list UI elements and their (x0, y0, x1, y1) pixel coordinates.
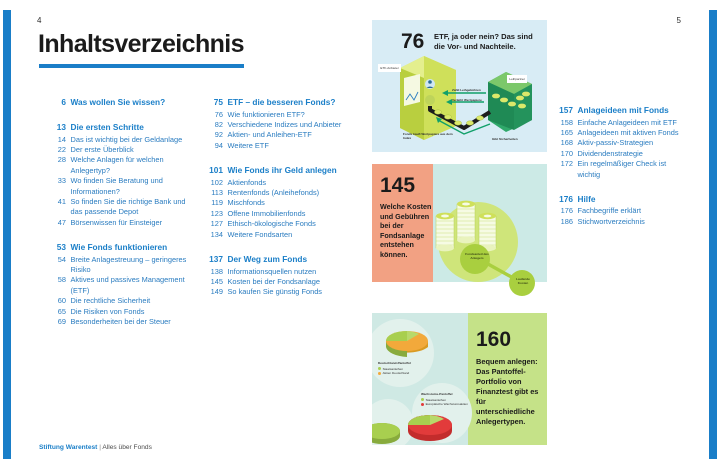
toc-page-number: 113 (206, 188, 228, 198)
toc-entry[interactable]: 54Breite Anlagestreuung – geringeres Ris… (49, 255, 192, 276)
toc-entry-label: Aktien- und Anleihen-ETF (228, 130, 350, 140)
toc-chapter-heading[interactable]: 101Wie Fonds ihr Geld anlegen (206, 164, 349, 176)
toc-entry[interactable]: 138Informationsquellen nutzen (206, 267, 349, 277)
toc-entry-label: Anlageideen mit aktiven Fonds (578, 128, 685, 138)
toc-entry[interactable]: 127Ethisch-ökologische Fonds (206, 219, 349, 229)
legend-label: Aktien Deutschland (383, 371, 410, 376)
toc-entry[interactable]: 14Das ist wichtig bei der Geldanlage (49, 135, 192, 145)
legend-swatch-icon (378, 367, 381, 370)
toc-entry-label: So finden Sie die richtige Bank und das … (71, 197, 193, 218)
toc-page-number: 60 (49, 296, 71, 306)
toc-entry[interactable]: 60Die rechtliche Sicherheit (49, 296, 192, 306)
toc-page-number: 69 (49, 317, 71, 327)
toc-chapter-heading[interactable]: 53Wie Fonds funktionieren (49, 241, 192, 253)
legend-title: Deutschland-Pantoffel (378, 361, 411, 366)
toc-entry-label: Weitere Fondsarten (228, 230, 350, 240)
pie-chart-portfolios (372, 313, 482, 445)
toc-entry-label: Mischfonds (228, 198, 350, 208)
toc-group: 53Wie Fonds funktionieren54Breite Anlage… (49, 241, 192, 327)
toc-page-number: 82 (206, 120, 228, 130)
toc-entry[interactable]: 119Mischfonds (206, 198, 349, 208)
title-underline (39, 64, 244, 68)
label-fonds-kauft-wertpapiere: Fonds kauft Wertpapiere aus dem Index (403, 132, 455, 141)
toc-entry-label: Aktives und passives Management (ETF) (71, 275, 193, 296)
toc-page-number: 101 (206, 164, 228, 176)
toc-entry[interactable]: 92Aktien- und Anleihen-ETF (206, 130, 349, 140)
toc-column-middle: 75ETF – die besseren Fonds?76Wie funktio… (206, 96, 349, 341)
toc-entry[interactable]: 134Weitere Fondsarten (206, 230, 349, 240)
toc-page-number: 176 (556, 193, 578, 205)
toc-group: 13Die ersten Schritte14Das ist wichtig b… (49, 121, 192, 228)
toc-entry-label: Dividendenstrategie (578, 149, 685, 159)
toc-page-number: 145 (206, 277, 228, 287)
toc-entry[interactable]: 186Stichwortverzeichnis (556, 217, 684, 227)
etf-lending-diagram (372, 20, 547, 152)
toc-page-number: 138 (206, 267, 228, 277)
toc-entry-label: Welche Anlagen für welchen Anlegertyp? (71, 155, 193, 176)
toc-columns: 6Was wollen Sie wissen?13Die ersten Schr… (49, 96, 349, 341)
toc-page-number: 172 (556, 159, 578, 180)
toc-entry[interactable]: 168Aktiv-passiv-Strategien (556, 138, 684, 148)
toc-entry-label: Die ersten Schritte (71, 121, 193, 133)
toc-page-number: 54 (49, 255, 71, 276)
toc-entry-label: Wie funktionieren ETF? (228, 110, 350, 120)
legend-deutschland-pantoffel: Deutschland-Pantoffel Staatsanleihen Akt… (378, 361, 411, 376)
toc-page-number: 76 (206, 110, 228, 120)
toc-page-number: 170 (556, 149, 578, 159)
toc-entry[interactable]: 33Wo finden Sie Beratung und Information… (49, 176, 192, 197)
toc-group: 137Der Weg zum Fonds138Informationsquell… (206, 253, 349, 298)
toc-entry[interactable]: 28Welche Anlagen für welchen Anlegertyp? (49, 155, 192, 176)
toc-group: 157Anlageideen mit Fonds158Einfache Anla… (556, 104, 684, 180)
toc-entry-label: Das ist wichtig bei der Geldanlage (71, 135, 193, 145)
toc-entry-label: Börsenwissen für Einsteiger (71, 218, 193, 228)
label-laufende-kosten: Laufende Kosten (512, 277, 534, 286)
page-right: 5 76 ETF, ja oder nein? Das sind die Vor… (360, 0, 709, 469)
toc-entry-label: Der erste Überblick (71, 145, 193, 155)
toc-entry-label: Die Risiken von Fonds (71, 307, 193, 317)
toc-page-number: 22 (49, 145, 71, 155)
toc-entry[interactable]: 76Wie funktionieren ETF? (206, 110, 349, 120)
toc-entry[interactable]: 94Weitere ETF (206, 141, 349, 151)
toc-page-number: 186 (556, 217, 578, 227)
legend-swatch-icon (378, 372, 381, 375)
legend-item: Aktien Deutschland (378, 371, 411, 376)
toc-entry[interactable]: 47Börsenwissen für Einsteiger (49, 218, 192, 228)
toc-entry[interactable]: 65Die Risiken von Fonds (49, 307, 192, 317)
toc-chapter-heading[interactable]: 137Der Weg zum Fonds (206, 253, 349, 265)
toc-entry-label: Besonderheiten bei der Steuer (71, 317, 193, 327)
toc-entry-label: Stichwortverzeichnis (578, 217, 685, 227)
toc-page-number: 53 (49, 241, 71, 253)
toc-entry[interactable]: 69Besonderheiten bei der Steuer (49, 317, 192, 327)
toc-page-number: 137 (206, 253, 228, 265)
toc-entry-label: Einfache Anlageideen mit ETF (578, 118, 685, 128)
toc-entry[interactable]: 165Anlageideen mit aktiven Fonds (556, 128, 684, 138)
toc-page-number: 75 (206, 96, 228, 108)
legend-item: Europäische Wachstumsaktien (421, 402, 468, 407)
toc-page-number: 102 (206, 178, 228, 188)
toc-entry[interactable]: 58Aktives und passives Management (ETF) (49, 275, 192, 296)
toc-entry-label: Aktiv-passiv-Strategien (578, 138, 685, 148)
label-etf-anbieter: ETF-Anbieter (378, 64, 401, 72)
teaser-145[interactable]: 145 Welche Kosten und Gebühren bei der F… (372, 164, 547, 282)
toc-chapter-heading[interactable]: 157Anlageideen mit Fonds (556, 104, 684, 116)
toc-entry[interactable]: 172Ein regelmäßiger Check ist wichtig (556, 159, 684, 180)
toc-entry[interactable]: 176Fachbegriffe erklärt (556, 206, 684, 216)
page-edge-bar-right (709, 10, 717, 459)
toc-entry-label: Wie Fonds funktionieren (71, 241, 193, 253)
teaser-160-caption: Bequem anlegen: Das Pantoffel-Portfolio … (476, 357, 540, 427)
legend-swatch-icon (421, 398, 424, 401)
toc-entry-label: Die rechtliche Sicherheit (71, 296, 193, 306)
toc-entry-label: Ein regelmäßiger Check ist wichtig (578, 159, 685, 180)
toc-column-right: 157Anlageideen mit Fonds158Einfache Anla… (556, 104, 684, 240)
footer-brand: Stiftung Warentest (39, 444, 97, 451)
toc-entry-label: Hilfe (578, 193, 685, 205)
toc-group: 101Wie Fonds ihr Geld anlegen102Aktienfo… (206, 164, 349, 240)
toc-entry-label: Anlageideen mit Fonds (578, 104, 685, 116)
toc-entry[interactable]: 145Kosten bei der Fondsanlage (206, 277, 349, 287)
page-left: 4 Inhaltsverzeichnis 6Was wollen Sie wis… (11, 0, 360, 469)
toc-page-number: 58 (49, 275, 71, 296)
toc-page-number: 92 (206, 130, 228, 140)
toc-page-number: 6 (49, 96, 71, 108)
toc-page-number: 33 (49, 176, 71, 197)
legend-title: Wachstums-Pantoffel (421, 392, 468, 397)
toc-entry-label: Fachbegriffe erklärt (578, 206, 685, 216)
page-title: Inhaltsverzeichnis (38, 30, 244, 59)
toc-page-number: 14 (49, 135, 71, 145)
label-verleiht-wertpapiere: Verleiht Wertpapiere (452, 98, 482, 102)
toc-entry-label: ETF – die besseren Fonds? (228, 96, 350, 108)
toc-entry-label: So kaufen Sie günstig Fonds (228, 287, 350, 297)
toc-entry[interactable]: 170Dividendenstrategie (556, 149, 684, 159)
toc-entry[interactable]: 82Verschiedene Indizes und Anbieter (206, 120, 349, 130)
toc-entry[interactable]: 123Offene Immobilienfonds (206, 209, 349, 219)
toc-entry-label: Kosten bei der Fondsanlage (228, 277, 350, 287)
toc-entry-label: Ethisch-ökologische Fonds (228, 219, 350, 229)
teaser-76[interactable]: 76 ETF, ja oder nein? Das sind die Vor- … (372, 20, 547, 152)
toc-group: 176Hilfe176Fachbegriffe erklärt186Stichw… (556, 193, 684, 227)
toc-entry-label: Weitere ETF (228, 141, 350, 151)
toc-entry[interactable]: 22Der erste Überblick (49, 145, 192, 155)
toc-page-number: 119 (206, 198, 228, 208)
label-fondsanteil-des-anlegers: Fondsanteil des Anlegers (464, 252, 490, 261)
page-edge-bar-left (3, 10, 11, 459)
page-footer: Stiftung Warentest | Alles über Fonds (39, 444, 152, 451)
toc-entry-label: Der Weg zum Fonds (228, 253, 350, 265)
toc-page-number: 158 (556, 118, 578, 128)
toc-chapter-heading[interactable]: 13Die ersten Schritte (49, 121, 192, 133)
toc-entry-label: Rentenfonds (Anleihefonds) (228, 188, 350, 198)
toc-chapter-heading[interactable]: 75ETF – die besseren Fonds? (206, 96, 349, 108)
toc-page-number: 176 (556, 206, 578, 216)
toc-group: 6Was wollen Sie wissen? (49, 96, 192, 108)
toc-page-number: 134 (206, 230, 228, 240)
footer-subtitle: Alles über Fonds (102, 444, 151, 451)
toc-page-number: 165 (556, 128, 578, 138)
legend-wachstums-pantoffel: Wachstums-Pantoffel Staatsanleihen Europ… (421, 392, 468, 407)
toc-page-number: 168 (556, 138, 578, 148)
toc-chapter-heading[interactable]: 6Was wollen Sie wissen? (49, 96, 192, 108)
toc-group: 75ETF – die besseren Fonds?76Wie funktio… (206, 96, 349, 151)
folio-left: 4 (37, 16, 41, 25)
toc-entry-label: Wie Fonds ihr Geld anlegen (228, 164, 350, 176)
toc-entry-label: Verschiedene Indizes und Anbieter (228, 120, 350, 130)
label-gibt-sicherheiten: Gibt Sicherheiten (492, 137, 518, 141)
legend-swatch-icon (421, 403, 424, 406)
toc-entry[interactable]: 149So kaufen Sie günstig Fonds (206, 287, 349, 297)
toc-entry-label: Offene Immobilienfonds (228, 209, 350, 219)
toc-page-number: 47 (49, 218, 71, 228)
toc-page-number: 149 (206, 287, 228, 297)
toc-page-number: 157 (556, 104, 578, 116)
footer-separator: | (99, 444, 101, 451)
toc-chapter-heading[interactable]: 176Hilfe (556, 193, 684, 205)
toc-page-number: 94 (206, 141, 228, 151)
toc-page-number: 28 (49, 155, 71, 176)
folio-right: 5 (677, 16, 681, 25)
toc-page-number: 123 (206, 209, 228, 219)
toc-entry[interactable]: 113Rentenfonds (Anleihefonds) (206, 188, 349, 198)
toc-entry-label: Aktienfonds (228, 178, 350, 188)
toc-entry-label: Wo finden Sie Beratung und Informationen… (71, 176, 193, 197)
label-leihpartner: Leihpartner (507, 75, 527, 83)
toc-page-number: 13 (49, 121, 71, 133)
toc-entry[interactable]: 102Aktienfonds (206, 178, 349, 188)
toc-entry-label: Informationsquellen nutzen (228, 267, 350, 277)
toc-entry[interactable]: 41So finden Sie die richtige Bank und da… (49, 197, 192, 218)
teaser-160[interactable]: 160 Bequem anlegen: Das Pantoffel-Portfo… (372, 313, 547, 445)
toc-column-left: 6Was wollen Sie wissen?13Die ersten Schr… (49, 96, 192, 341)
label-zahlt-leihgebuehren: Zahlt Leihgebühren (452, 88, 481, 92)
toc-page-number: 41 (49, 197, 71, 218)
toc-page-number: 127 (206, 219, 228, 229)
toc-entry-label: Breite Anlagestreuung – geringeres Risik… (71, 255, 193, 276)
toc-page-number: 65 (49, 307, 71, 317)
toc-entry[interactable]: 158Einfache Anlageideen mit ETF (556, 118, 684, 128)
toc-entry-label: Was wollen Sie wissen? (71, 96, 193, 108)
legend-label: Europäische Wachstumsaktien (426, 402, 468, 407)
